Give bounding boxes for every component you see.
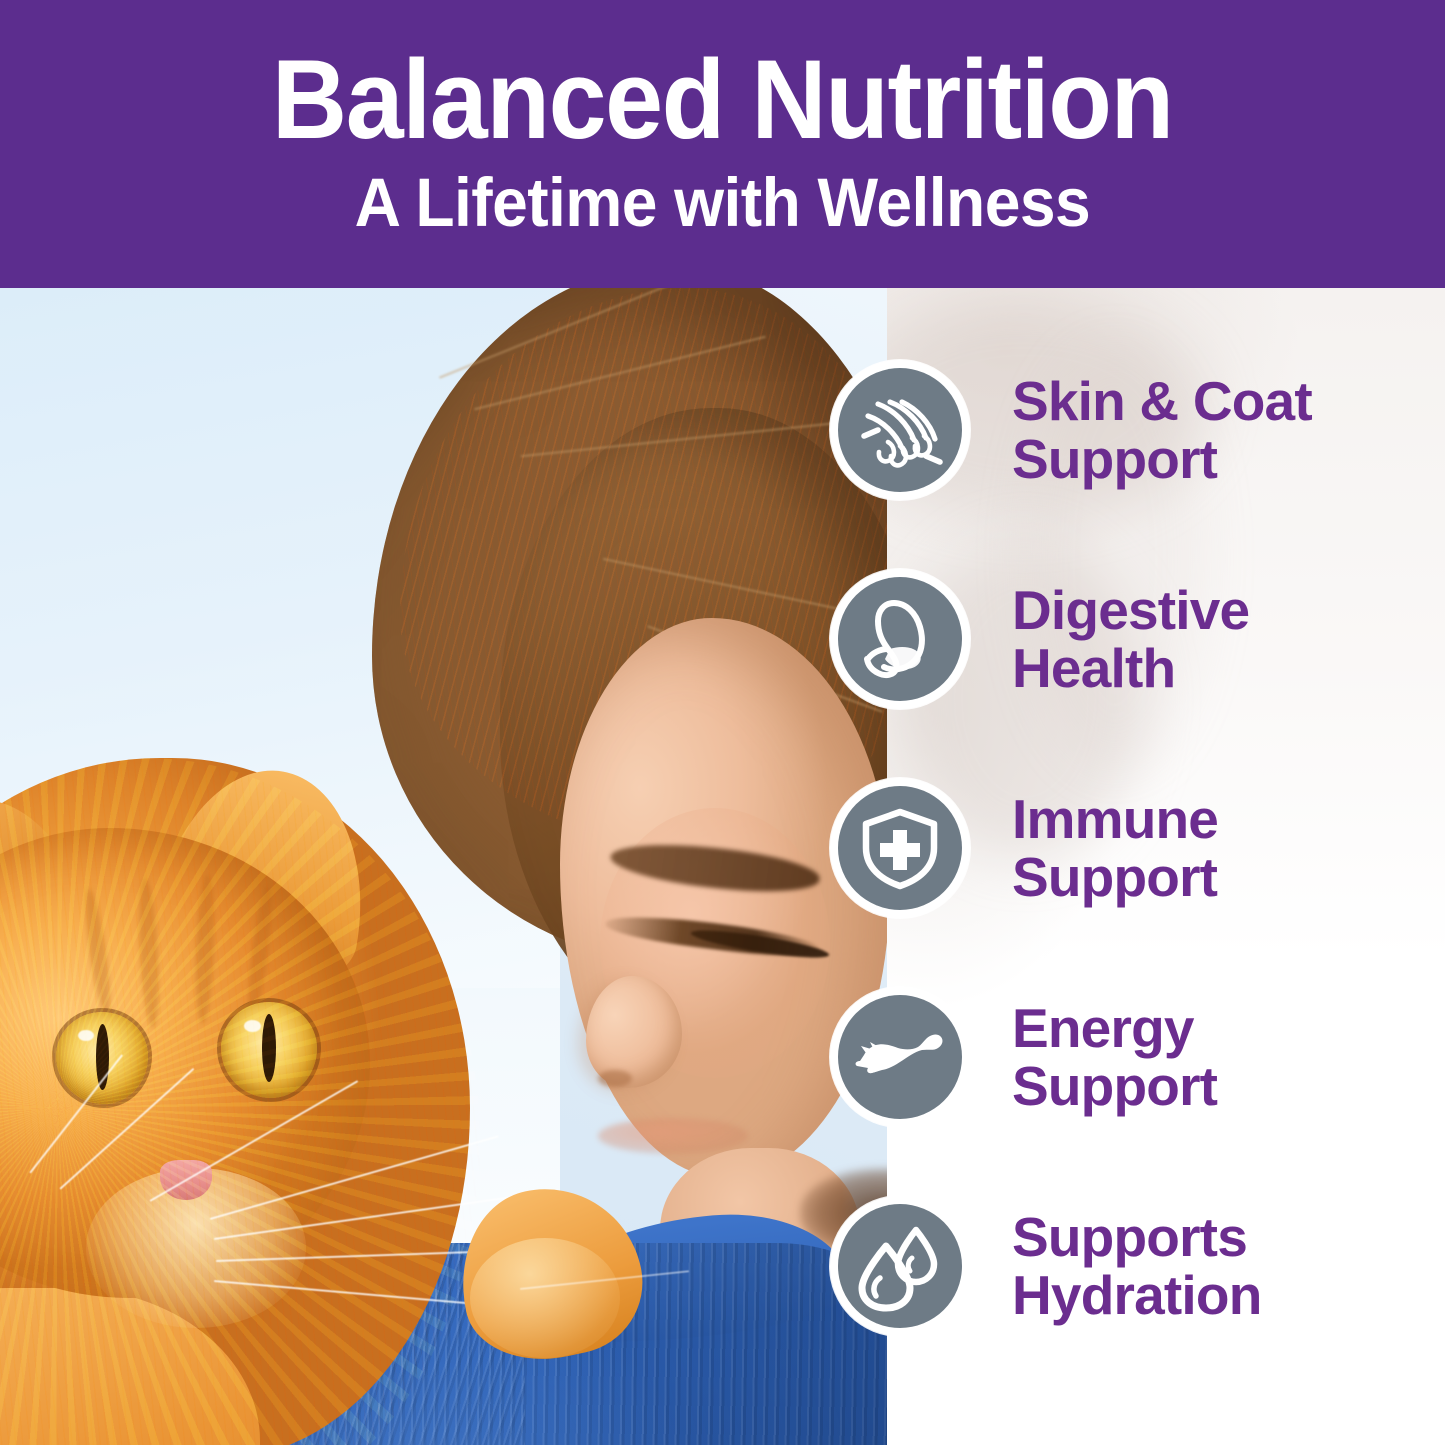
benefit-label: Skin & Coat Support	[1012, 372, 1312, 489]
benefit-item-digestive[interactable]: Digestive Health	[830, 569, 1249, 709]
benefit-label: Digestive Health	[1012, 581, 1249, 698]
page-subtitle: A Lifetime with Wellness	[355, 167, 1090, 239]
hair-follicle-icon	[838, 368, 962, 492]
child-nostril	[598, 1070, 632, 1087]
benefit-item-energy[interactable]: Energy Support	[830, 987, 1217, 1127]
icon-badge	[830, 987, 970, 1127]
water-droplets-icon	[838, 1204, 962, 1328]
icon-badge	[830, 778, 970, 918]
infographic-page: Balanced Nutrition A Lifetime with Welln…	[0, 0, 1445, 1445]
benefit-label: Supports Hydration	[1012, 1208, 1262, 1325]
benefit-label: Energy Support	[1012, 999, 1217, 1116]
benefit-item-skin-coat[interactable]: Skin & Coat Support	[830, 360, 1312, 500]
benefit-item-immune[interactable]: Immune Support	[830, 778, 1218, 918]
benefit-item-hydration[interactable]: Supports Hydration	[830, 1196, 1262, 1336]
cat-paw-tuft	[470, 1238, 620, 1358]
icon-badge	[830, 569, 970, 709]
leaping-cat-icon	[838, 995, 962, 1119]
icon-badge	[830, 1196, 970, 1336]
page-title: Balanced Nutrition	[272, 43, 1173, 157]
header-band: Balanced Nutrition A Lifetime with Welln…	[0, 0, 1445, 288]
hero-photo	[0, 288, 887, 1445]
child-lips	[598, 1118, 748, 1154]
benefit-label: Immune Support	[1012, 790, 1218, 907]
stomach-icon	[838, 577, 962, 701]
icon-badge	[830, 360, 970, 500]
shield-cross-icon	[838, 786, 962, 910]
